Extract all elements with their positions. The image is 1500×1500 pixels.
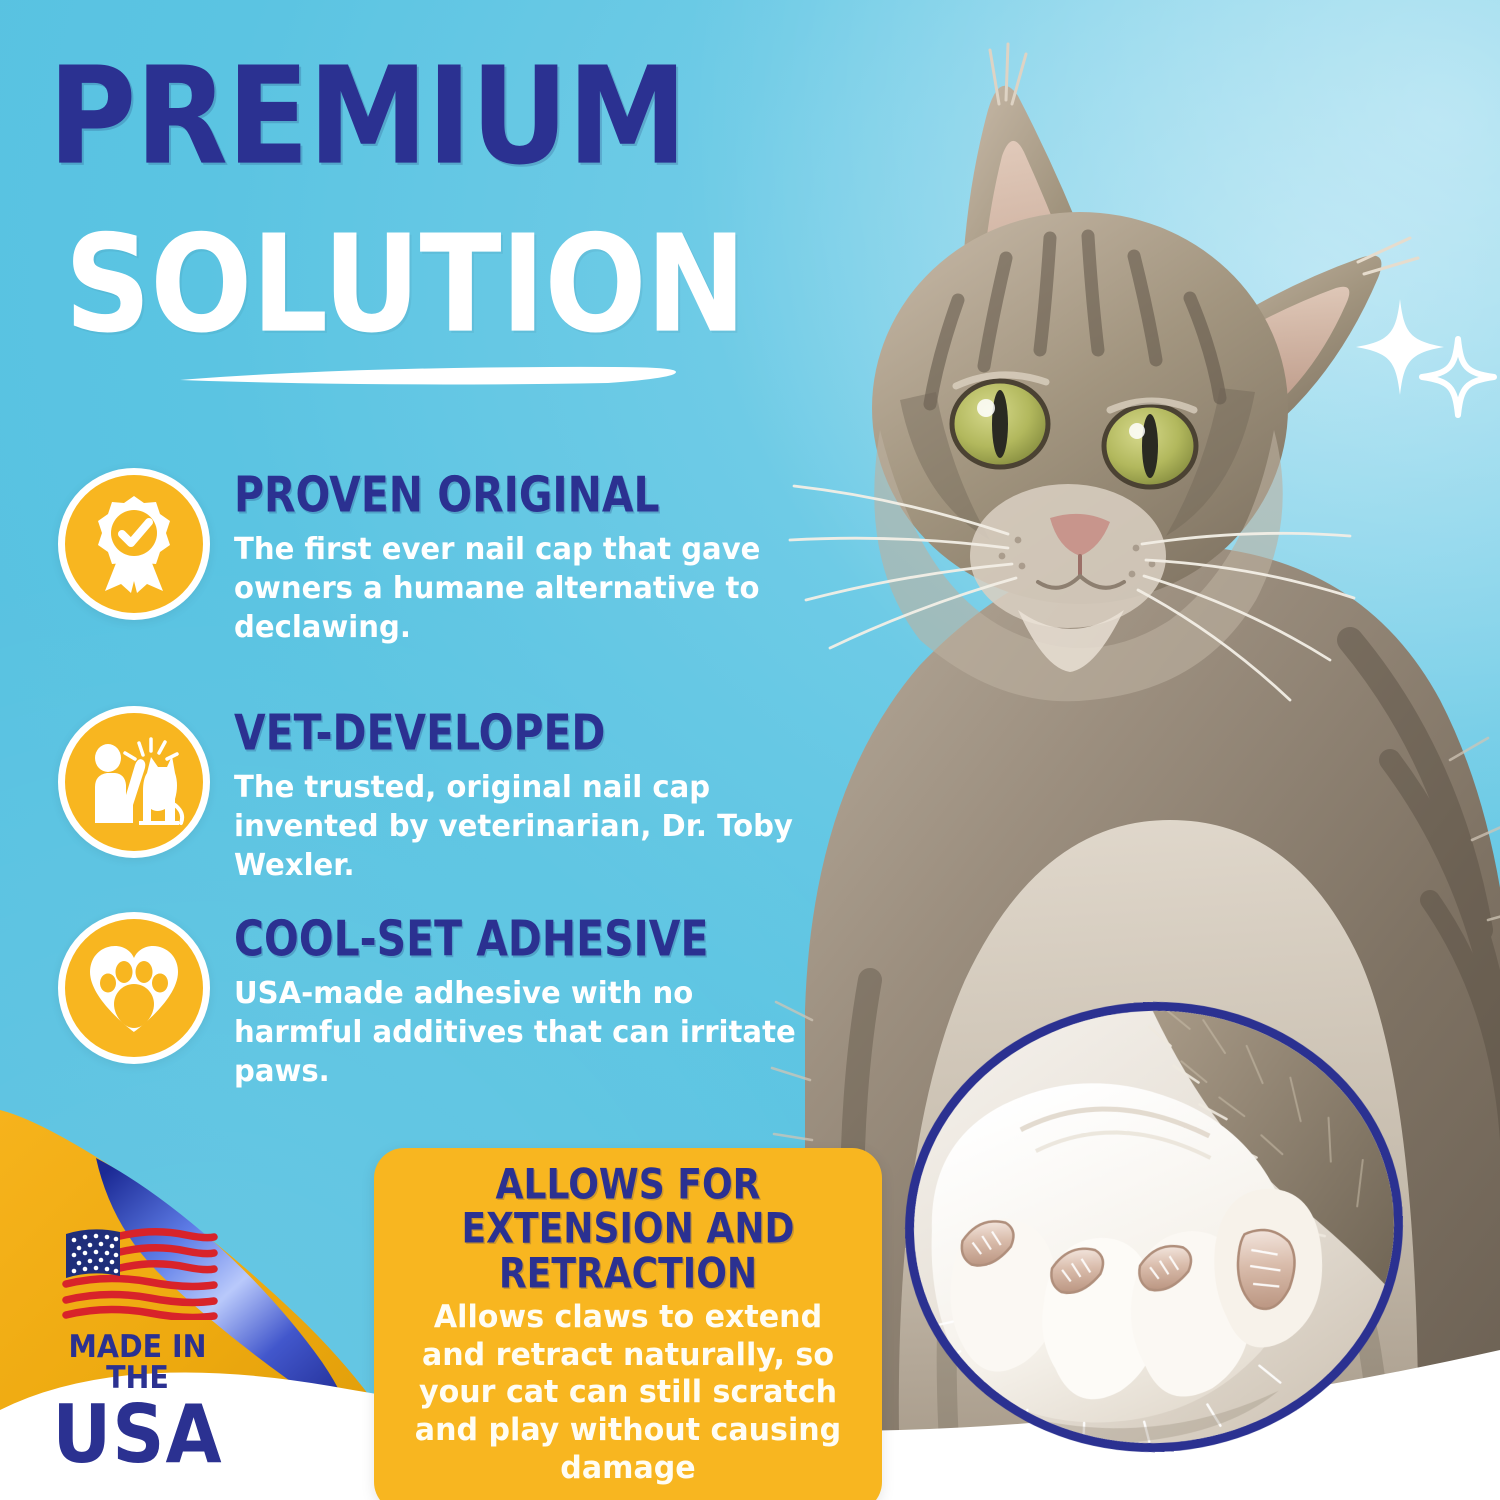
vet-highfive-cat-icon bbox=[58, 706, 210, 858]
headline-block: PREMIUM SOLUTION bbox=[42, 52, 862, 332]
feature-body: The trusted, original nail cap invented … bbox=[234, 768, 830, 885]
made-in-the-label: MADE IN THE bbox=[39, 1332, 237, 1394]
usa-flag-icon bbox=[58, 1224, 218, 1320]
heart-paw-icon bbox=[58, 912, 210, 1064]
feature-title: COOL-SET ADHESIVE bbox=[234, 915, 805, 964]
feature-cool-set-adhesive: COOL-SET ADHESIVE USA-made adhesive with… bbox=[58, 912, 848, 1091]
feature-body: The first ever nail cap that gave owners… bbox=[234, 530, 816, 647]
feature-text-block: PROVEN ORIGINAL The first ever nail cap … bbox=[234, 468, 834, 647]
extension-retraction-callout: ALLOWS FOR EXTENSION AND RETRACTION Allo… bbox=[374, 1148, 882, 1500]
made-in-usa-badge: MADE IN THE USA bbox=[30, 1224, 245, 1472]
feature-vet-developed: VET-DEVELOPED The trusted, original nail… bbox=[58, 706, 848, 885]
headline-divider-swoosh bbox=[178, 365, 678, 387]
feature-title: PROVEN ORIGINAL bbox=[234, 471, 792, 520]
usa-label: USA bbox=[32, 1395, 243, 1475]
feature-proven-original: PROVEN ORIGINAL The first ever nail cap … bbox=[58, 468, 848, 647]
feature-title: VET-DEVELOPED bbox=[234, 709, 805, 758]
headline-solution: SOLUTION bbox=[42, 220, 878, 348]
headline-premium: PREMIUM bbox=[42, 52, 878, 180]
callout-title: ALLOWS FOR EXTENSION AND RETRACTION bbox=[408, 1162, 849, 1295]
feature-text-block: COOL-SET ADHESIVE USA-made adhesive with… bbox=[234, 912, 848, 1091]
callout-body: Allows claws to extend and retract natur… bbox=[403, 1299, 853, 1488]
product-infographic-poster: PREMIUM SOLUTION PROVEN ORIGINAL The fir… bbox=[0, 0, 1500, 1500]
feature-body: USA-made adhesive with no harmful additi… bbox=[234, 974, 830, 1091]
feature-text-block: VET-DEVELOPED The trusted, original nail… bbox=[234, 706, 848, 885]
award-ribbon-check-icon bbox=[58, 468, 210, 620]
